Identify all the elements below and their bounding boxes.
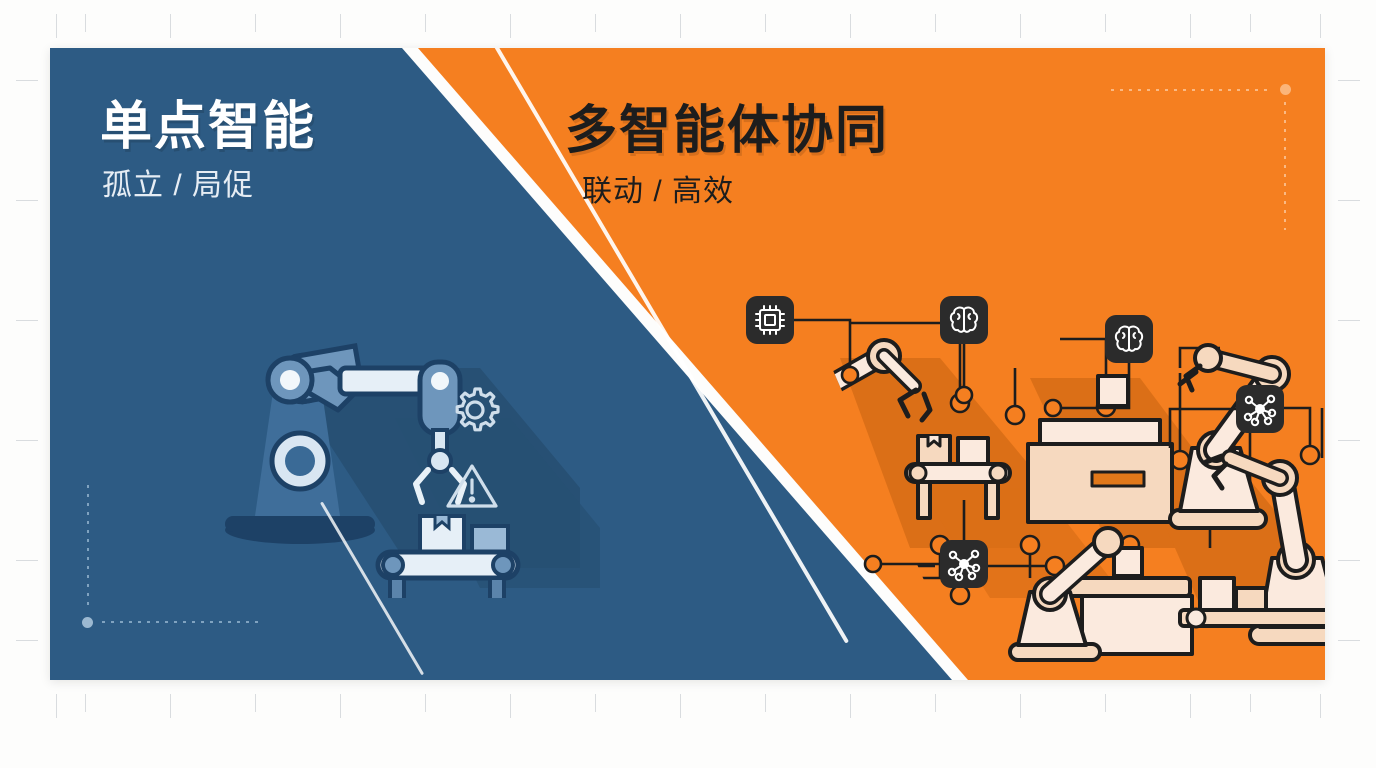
grid-tick-top xyxy=(765,14,766,32)
single-robot-illustration xyxy=(180,298,600,598)
grid-tick-bottom xyxy=(765,694,766,712)
right-panel-title: 多智能体协同 xyxy=(565,88,889,163)
grid-tick-top xyxy=(510,14,511,38)
left-panel-subtitle: 孤立 / 局促 xyxy=(102,160,254,204)
grid-tick-right xyxy=(1338,320,1360,321)
grid-tick-top xyxy=(1020,14,1021,38)
left-panel-title: 单点智能 xyxy=(100,84,316,159)
grid-tick-bottom xyxy=(425,694,426,712)
grid-tick-right xyxy=(1338,640,1360,641)
grid-tick-top xyxy=(1320,14,1321,38)
grid-tick-left xyxy=(16,560,38,561)
grid-tick-right xyxy=(1338,200,1360,201)
right-panel-subtitle: 联动 / 高效 xyxy=(582,166,734,210)
network-nodes-icon xyxy=(1236,385,1284,433)
grid-tick-top xyxy=(340,14,341,38)
grid-tick-top xyxy=(255,14,256,32)
grid-tick-top xyxy=(1190,14,1191,38)
grid-tick-bottom xyxy=(510,694,511,718)
grid-tick-top xyxy=(850,14,851,38)
grid-tick-top xyxy=(85,14,86,32)
badge-chip[interactable] xyxy=(746,296,794,344)
grid-tick-top xyxy=(680,14,681,38)
gear-icon xyxy=(446,381,504,439)
grid-tick-top xyxy=(170,14,171,38)
grid-tick-left xyxy=(16,640,38,641)
badge-brain-1[interactable] xyxy=(940,296,988,344)
grid-tick-right xyxy=(1338,80,1360,81)
grid-tick-top xyxy=(1250,14,1251,32)
grid-tick-bottom xyxy=(850,694,851,718)
badge-network-1[interactable] xyxy=(1236,385,1284,433)
grid-tick-top xyxy=(56,14,57,38)
grid-tick-right xyxy=(1338,560,1360,561)
grid-tick-left xyxy=(16,440,38,441)
grid-tick-left xyxy=(16,200,38,201)
grid-tick-bottom xyxy=(340,694,341,718)
grid-tick-left xyxy=(16,320,38,321)
grid-tick-top xyxy=(595,14,596,32)
badge-brain-2[interactable] xyxy=(1105,315,1153,363)
grid-tick-top xyxy=(935,14,936,32)
brain-icon xyxy=(1105,315,1153,363)
grid-tick-bottom xyxy=(1320,694,1321,718)
grid-tick-right xyxy=(1338,440,1360,441)
comparison-card: 单点智能 孤立 / 局促 多智能体协同 联动 / 高效 xyxy=(50,48,1325,680)
grid-tick-bottom xyxy=(595,694,596,712)
grid-tick-bottom xyxy=(1190,694,1191,718)
grid-tick-bottom xyxy=(1250,694,1251,712)
slide-canvas: 单点智能 孤立 / 局促 多智能体协同 联动 / 高效 xyxy=(0,0,1376,768)
grid-tick-bottom xyxy=(680,694,681,718)
grid-tick-bottom xyxy=(935,694,936,712)
grid-tick-bottom xyxy=(1105,694,1106,712)
warning-triangle-icon xyxy=(444,460,500,512)
network-nodes-icon xyxy=(940,540,988,588)
grid-tick-bottom xyxy=(1020,694,1021,718)
badge-network-2[interactable] xyxy=(940,540,988,588)
brain-icon xyxy=(940,296,988,344)
grid-tick-bottom xyxy=(56,694,57,718)
grid-tick-bottom xyxy=(85,694,86,712)
grid-tick-bottom xyxy=(170,694,171,718)
chip-icon xyxy=(746,296,794,344)
grid-tick-left xyxy=(16,80,38,81)
grid-tick-top xyxy=(425,14,426,32)
grid-tick-top xyxy=(1105,14,1106,32)
grid-tick-bottom xyxy=(255,694,256,712)
